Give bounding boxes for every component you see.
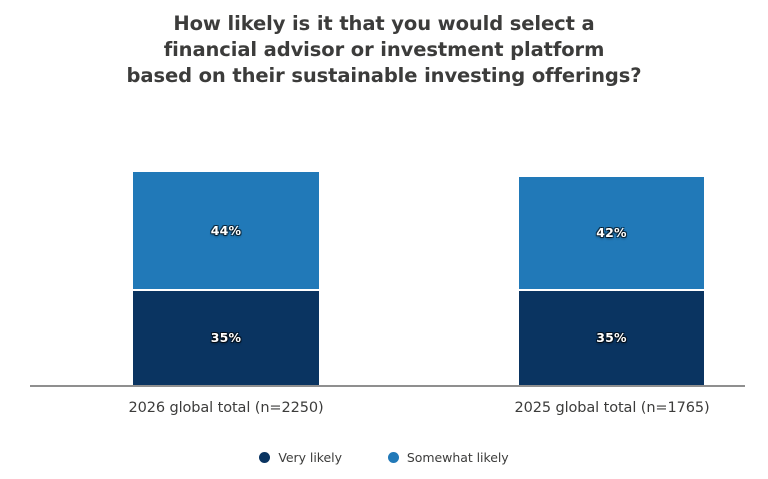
bar-segment-somewhat-likely[interactable]: 42% — [519, 177, 704, 290]
chart-title: How likely is it that you would select a… — [0, 11, 768, 89]
legend-item-somewhat-likely[interactable]: Somewhat likely — [388, 450, 509, 465]
bar-value-label: 35% — [211, 330, 242, 345]
x-axis-baseline — [30, 385, 745, 387]
legend-item-label: Very likely — [278, 450, 342, 465]
bar-group: 44% 35% — [133, 172, 319, 385]
plot-area: 44% 35% 42% 35% — [0, 120, 768, 390]
legend-swatch-icon — [388, 452, 399, 463]
legend-item-label: Somewhat likely — [407, 450, 509, 465]
x-axis-category-label: 2026 global total (n=2250) — [103, 400, 349, 416]
x-axis-category-label: 2025 global total (n=1765) — [489, 400, 735, 416]
bar-segment-very-likely[interactable]: 35% — [133, 291, 319, 386]
chart-legend: Very likely Somewhat likely — [0, 450, 768, 465]
bar-value-label: 44% — [211, 223, 242, 238]
bar-group: 42% 35% — [519, 177, 704, 385]
bar-value-label: 42% — [596, 225, 627, 240]
bar-value-label: 35% — [596, 330, 627, 345]
legend-item-very-likely[interactable]: Very likely — [259, 450, 342, 465]
legend-swatch-icon — [259, 452, 270, 463]
bar-segment-somewhat-likely[interactable]: 44% — [133, 172, 319, 291]
bar-segment-very-likely[interactable]: 35% — [519, 291, 704, 386]
